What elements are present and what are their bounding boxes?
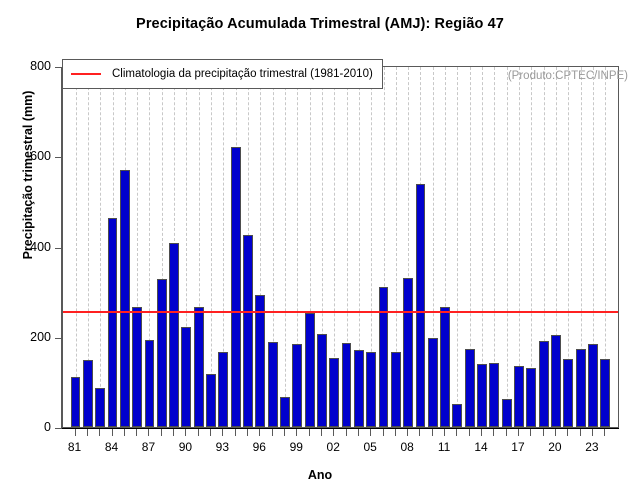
x-axis-tick-label: 99 [276,440,316,454]
x-axis-tick-label: 08 [387,440,427,454]
x-axis-tick-label: 20 [535,440,575,454]
bar [539,341,549,427]
bar-series [63,67,618,427]
x-axis-tick [148,429,149,436]
x-axis-tick [124,429,125,436]
x-axis-tick [284,429,285,436]
bar [71,377,81,427]
bar [342,343,352,427]
x-axis-tick [75,429,76,436]
bar [477,364,487,427]
x-axis-tick [555,429,556,436]
x-axis-tick [407,429,408,436]
x-axis-tick [530,429,531,436]
x-axis-tick [419,429,420,436]
x-axis-label: Ano [0,468,640,482]
x-axis-tick-label: 11 [424,440,464,454]
bar [206,374,216,427]
bar [465,349,475,427]
bar [379,287,389,427]
y-axis-tick [55,428,62,429]
x-axis-tick [173,429,174,436]
bar [132,307,142,427]
y-axis-tick [55,248,62,249]
bar [243,235,253,427]
bar [231,147,241,427]
bar [108,218,118,427]
y-axis-tick [55,157,62,158]
x-axis-tick-label: 14 [461,440,501,454]
x-axis-tick-label: 17 [498,440,538,454]
bar [452,404,462,427]
bar [563,359,573,427]
bar [576,349,586,427]
x-axis-tick [346,429,347,436]
x-axis-tick [210,429,211,436]
bar [255,295,265,427]
x-axis-tick [259,429,260,436]
bar [403,278,413,427]
y-axis-tick [55,338,62,339]
x-axis-tick [518,429,519,436]
bar [145,340,155,427]
x-axis-tick [235,429,236,436]
legend-item-label: Climatologia da precipitação trimestral … [112,68,373,80]
bar [366,352,376,427]
x-axis-tick [481,429,482,436]
bar [305,313,315,427]
x-axis-tick [383,429,384,436]
x-axis-tick [370,429,371,436]
y-axis-tick-label: 800 [0,59,51,73]
x-axis-tick [99,429,100,436]
bar [181,327,191,427]
legend-line-swatch [71,73,101,75]
chart-canvas: Precipitação Acumulada Trimestral (AMJ):… [0,0,640,500]
bar [169,243,179,427]
legend: Climatologia da precipitação trimestral … [62,59,383,89]
x-axis-tick [592,429,593,436]
x-axis-spine [62,428,619,429]
bar [194,307,204,427]
bar [354,350,364,427]
x-axis-tick [112,429,113,436]
x-axis-tick [543,429,544,436]
x-axis-tick [136,429,137,436]
x-axis-tick-label: 81 [55,440,95,454]
x-axis-tick-label: 87 [128,440,168,454]
x-axis-tick-label: 90 [165,440,205,454]
bar [502,399,512,427]
bar [218,352,228,427]
climatology-reference-line [63,311,618,313]
x-axis-tick [444,429,445,436]
bar [600,359,610,427]
x-axis-tick [222,429,223,436]
x-axis-tick [272,429,273,436]
bar [428,338,438,427]
bar [514,366,524,427]
x-axis-tick [493,429,494,436]
bar [268,342,278,427]
x-axis-tick [198,429,199,436]
chart-title: Precipitação Acumulada Trimestral (AMJ):… [0,16,640,32]
x-axis-tick [604,429,605,436]
bar [416,184,426,427]
watermark-label: (Produto:CPTEC/INPE) [508,70,628,82]
x-axis-tick-label: 84 [92,440,132,454]
x-axis-tick [395,429,396,436]
x-axis-tick-label: 23 [572,440,612,454]
bar [317,334,327,427]
x-axis-tick-label: 93 [202,440,242,454]
x-axis-tick-label: 96 [239,440,279,454]
x-axis-tick [358,429,359,436]
x-axis-tick-label: 05 [350,440,390,454]
y-axis-tick-label: 200 [0,330,51,344]
bar [588,344,598,427]
bar [83,360,93,427]
y-axis-tick-label: 400 [0,240,51,254]
x-axis-tick [87,429,88,436]
bar [280,397,290,427]
x-axis-tick [456,429,457,436]
x-axis-tick [333,429,334,436]
bar [95,388,105,427]
x-axis-tick [161,429,162,436]
y-axis-tick-label: 600 [0,149,51,163]
x-axis-tick [296,429,297,436]
bar [329,358,339,427]
x-axis-tick [506,429,507,436]
bar [157,279,167,427]
bar [391,352,401,427]
bar [489,363,499,427]
bar [120,170,130,427]
x-axis-tick [247,429,248,436]
x-axis-tick [580,429,581,436]
bar [551,335,561,427]
y-axis-tick [55,67,62,68]
x-axis-tick [185,429,186,436]
x-axis-tick-label: 02 [313,440,353,454]
bar [292,344,302,427]
x-axis-tick [469,429,470,436]
x-axis-tick [567,429,568,436]
bar [440,307,450,427]
plot-area [62,66,619,428]
x-axis-tick [309,429,310,436]
x-axis-tick [432,429,433,436]
bar [526,368,536,427]
x-axis-tick [321,429,322,436]
y-axis-tick-label: 0 [0,420,51,434]
